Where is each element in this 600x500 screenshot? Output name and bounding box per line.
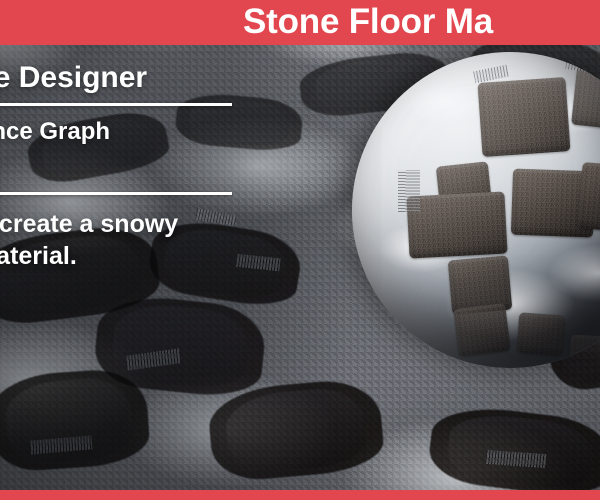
overlay-subtitle-line-2: ures (0, 147, 242, 176)
overlay-description-line-2: or material. (0, 241, 242, 273)
thumbnail-canvas: ance Designer bstance Graph ures w to cr… (0, 0, 600, 500)
text-overlay: ance Designer bstance Graph ures w to cr… (0, 62, 242, 272)
overlay-description: w to create a snowy or material. (0, 209, 242, 272)
overlay-description-line-1: w to create a snowy (0, 209, 242, 241)
overlay-divider-bottom (0, 192, 232, 195)
banner-title: Stone Floor Ma (243, 0, 493, 45)
overlay-subtitle-line-1: bstance Graph (0, 118, 242, 147)
material-preview-sphere (352, 52, 600, 368)
overlay-heading: ance Designer (0, 62, 242, 94)
overlay-subtitle: bstance Graph ures (0, 118, 242, 176)
overlay-divider-top (0, 103, 232, 106)
top-red-banner: Stone Floor Ma (0, 0, 600, 45)
bottom-red-bar (0, 490, 600, 500)
